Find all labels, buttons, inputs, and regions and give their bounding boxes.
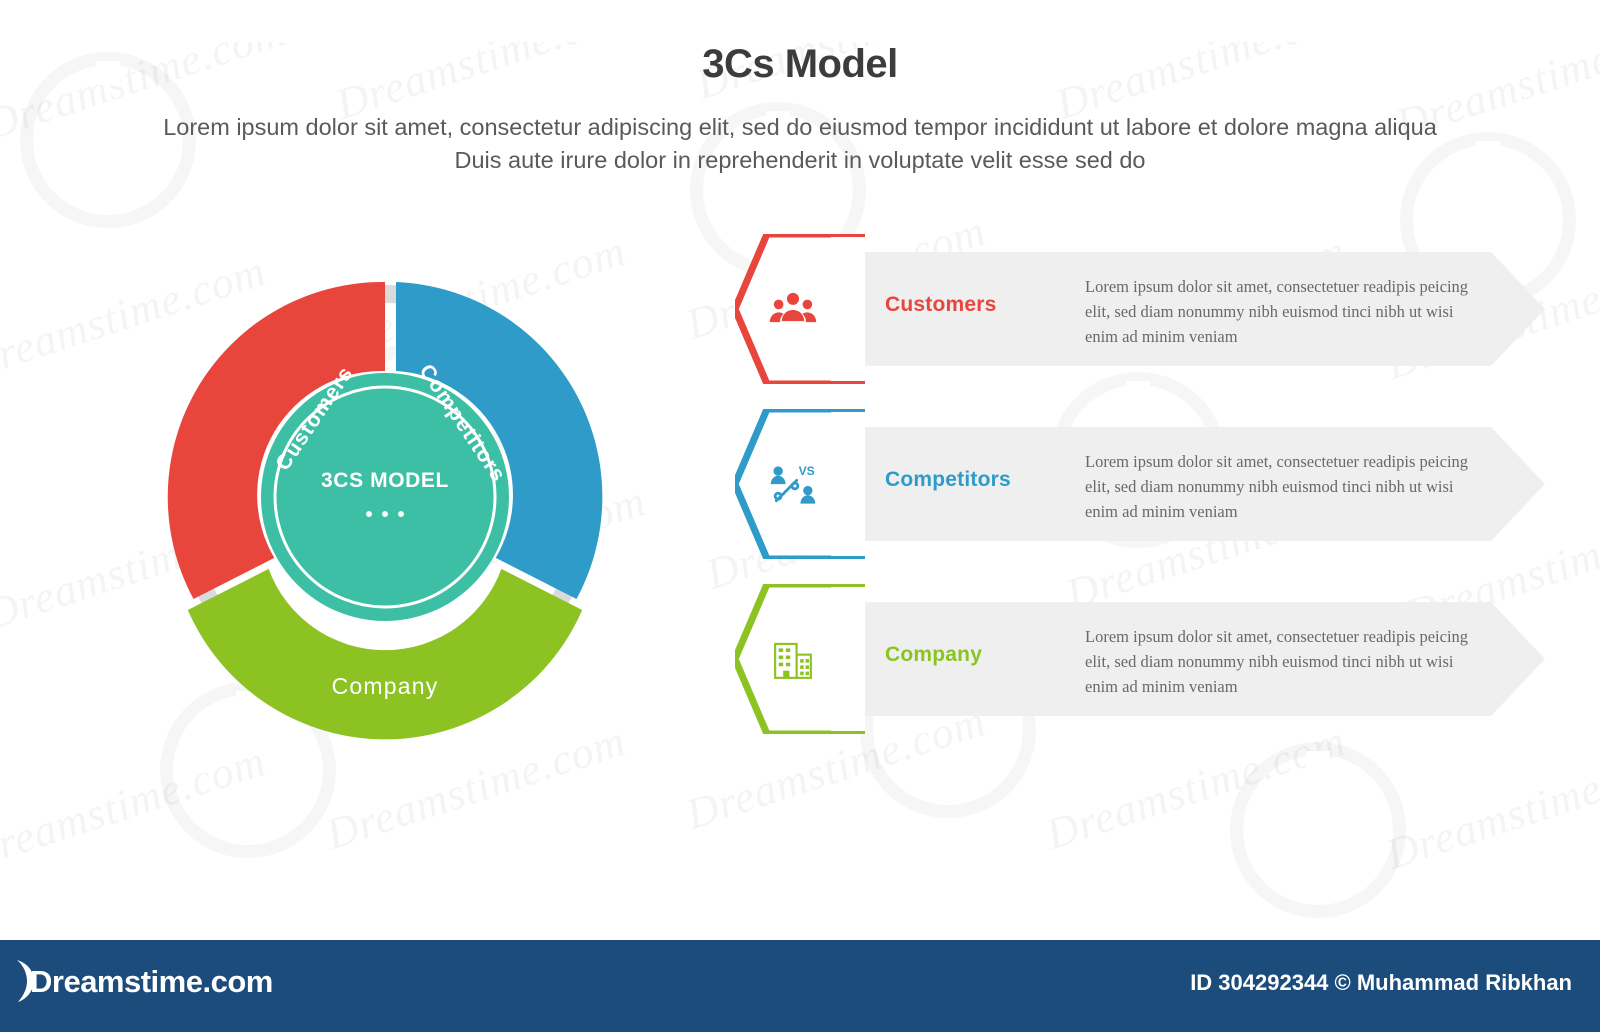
brand-domain-suffix: .com xyxy=(202,964,272,999)
brand-name: Dreamstime xyxy=(30,964,202,999)
image-credit: ID 304292344 © Muhammad Ribkhan xyxy=(1190,970,1572,996)
svg-text:VS: VS xyxy=(799,464,815,478)
diagram-center-circle[interactable] xyxy=(261,373,509,621)
item-title: Company xyxy=(885,643,982,667)
item-title: Customers xyxy=(885,293,997,317)
main-content: Customers Competitors Company 3CS MODEL xyxy=(0,212,1600,812)
users-group-icon xyxy=(765,282,821,338)
page-title: 3Cs Model xyxy=(0,42,1600,87)
brand-wordmark: Dreamstime.com xyxy=(30,964,273,1000)
item-description: Lorem ipsum dolor sit amet, consectetuer… xyxy=(1085,624,1475,699)
circular-diagram: Customers Competitors Company 3CS MODEL xyxy=(115,222,655,762)
item-title: Competitors xyxy=(885,468,1011,492)
footer-bar: Dreamstime.com ID 304292344 © Muhammad R… xyxy=(0,940,1600,1032)
versus-people-icon: VS xyxy=(765,457,821,513)
items-list: Customers Lorem ipsum dolor sit amet, co… xyxy=(735,234,1545,759)
infographic-page: 3Cs Model Lorem ipsum dolor sit amet, co… xyxy=(0,42,1600,812)
list-item[interactable]: VS Competitors Lorem ipsum dolor sit ame… xyxy=(735,409,1545,559)
item-description: Lorem ipsum dolor sit amet, consectetuer… xyxy=(1085,274,1475,349)
list-item[interactable]: Customers Lorem ipsum dolor sit amet, co… xyxy=(735,234,1545,384)
office-building-icon xyxy=(765,632,821,688)
item-description: Lorem ipsum dolor sit amet, consectetuer… xyxy=(1085,449,1475,524)
arc-label-company: Company xyxy=(332,673,439,699)
list-item[interactable]: Company Lorem ipsum dolor sit amet, cons… xyxy=(735,584,1545,734)
page-subtitle: Lorem ipsum dolor sit amet, consectetur … xyxy=(155,111,1445,178)
